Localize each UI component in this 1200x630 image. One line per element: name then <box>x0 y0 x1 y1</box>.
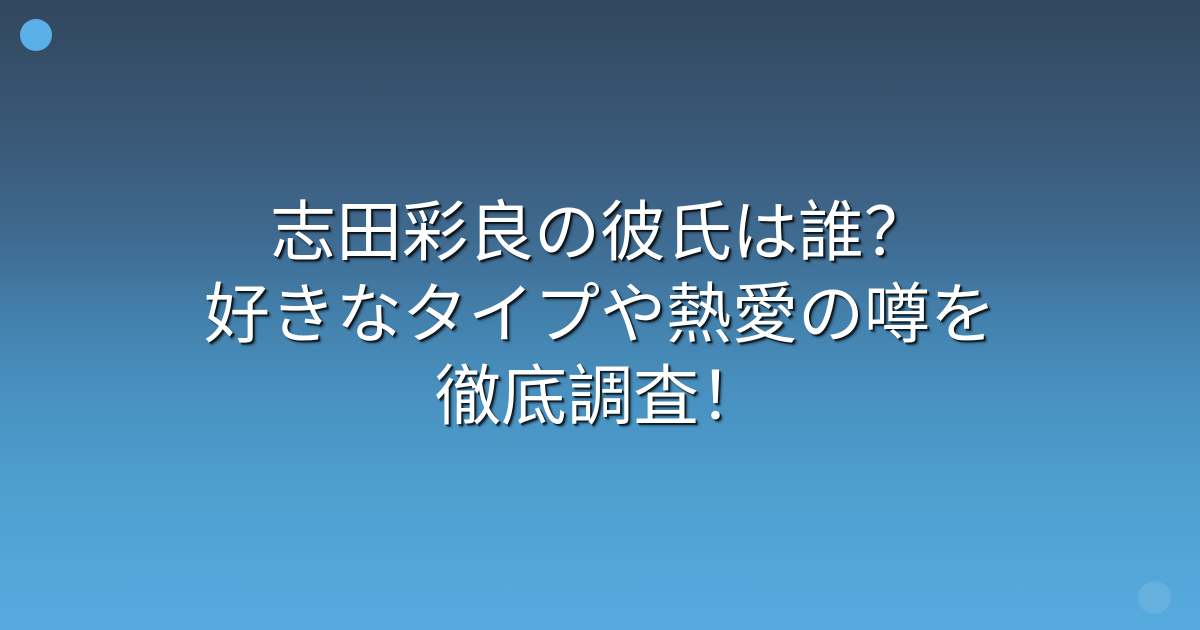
page-title: 志田彩良の彼氏は誰？ 好きなタイプや熱愛の噂を 徹底調査！ <box>60 192 1140 438</box>
og-image-card: 志田彩良の彼氏は誰？ 好きなタイプや熱愛の噂を 徹底調査！ <box>0 0 1200 630</box>
title-container: 志田彩良の彼氏は誰？ 好きなタイプや熱愛の噂を 徹底調査！ <box>0 0 1200 630</box>
